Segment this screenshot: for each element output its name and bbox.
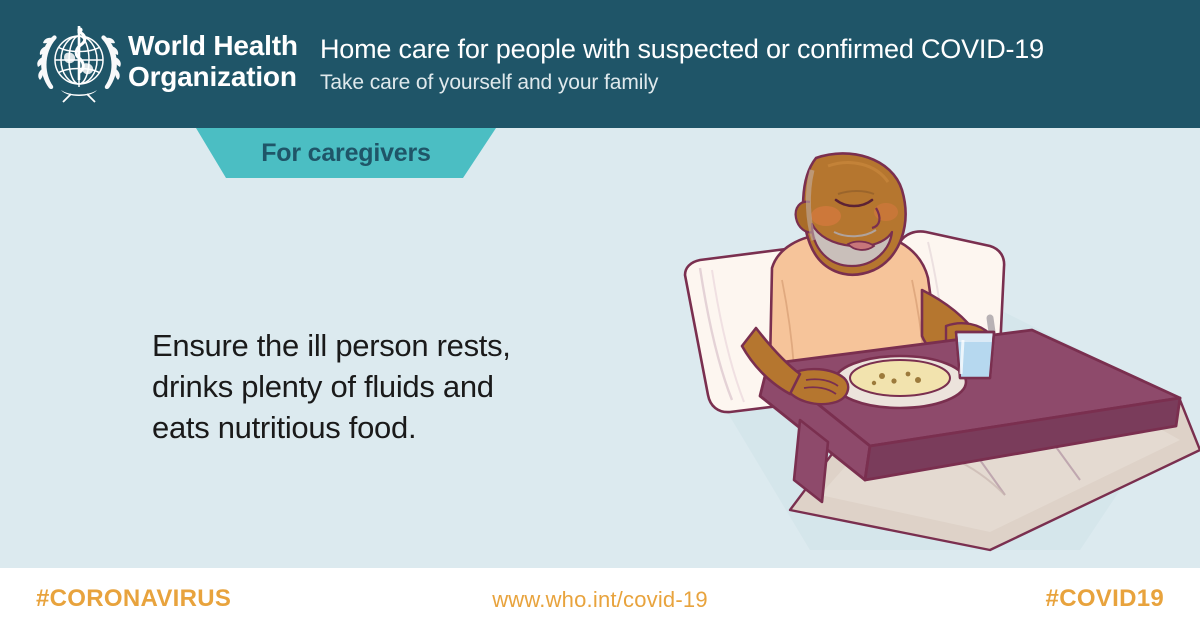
for-caregivers-banner: For caregivers xyxy=(196,128,496,178)
header-title: Home care for people with suspected or c… xyxy=(320,34,1044,65)
who-emblem-icon xyxy=(31,20,127,108)
who-wordmark: World Health Organization xyxy=(128,30,298,92)
hashtag-covid19: #COVID19 xyxy=(1046,585,1164,613)
footer-bar: #CORONAVIRUS www.who.int/covid-19 #COVID… xyxy=(0,568,1200,628)
header-bar: World Health Organization Home care for … xyxy=(0,0,1200,128)
elderly-man-eating-in-bed-illustration xyxy=(660,150,1200,570)
for-caregivers-label: For caregivers xyxy=(196,128,496,178)
who-url[interactable]: www.who.int/covid-19 xyxy=(0,587,1200,613)
main-message: Ensure the ill person rests, drinks plen… xyxy=(152,325,622,448)
who-covid-infographic: World Health Organization Home care for … xyxy=(0,0,1200,628)
header-subtitle: Take care of yourself and your family xyxy=(320,71,658,95)
